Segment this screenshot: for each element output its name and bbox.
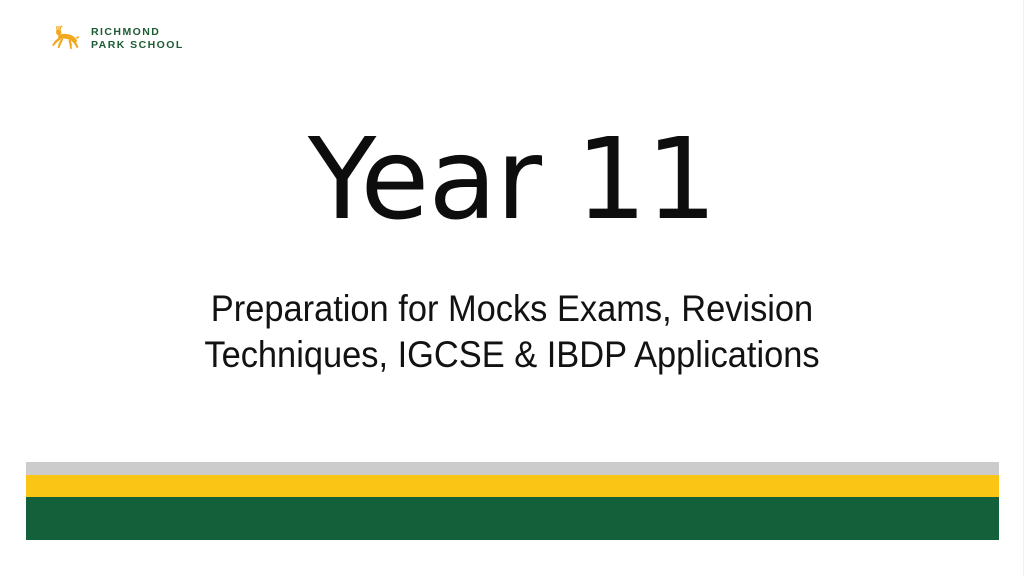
subtitle-line-1: Preparation for Mocks Exams, Revision — [36, 286, 988, 332]
school-logo: RICHMOND PARK SCHOOL — [48, 22, 184, 56]
leaping-stag-icon — [48, 22, 82, 56]
school-logo-wordmark: RICHMOND PARK SCHOOL — [91, 26, 184, 52]
title-block: Year 11 — [0, 124, 1024, 236]
subtitle-block: Preparation for Mocks Exams, Revision Te… — [0, 286, 1024, 379]
subtitle-line-2: Techniques, IGCSE & IBDP Applications — [36, 332, 988, 378]
presentation-slide: RICHMOND PARK SCHOOL Year 11 Preparation… — [0, 0, 1024, 576]
footer-band-gray — [26, 462, 999, 475]
logo-line-park-school: PARK SCHOOL — [91, 39, 184, 52]
page-title: Year 11 — [0, 124, 1024, 236]
footer-color-bands — [26, 462, 999, 540]
footer-band-gold — [26, 475, 999, 497]
logo-line-richmond: RICHMOND — [91, 26, 184, 39]
footer-band-green — [26, 497, 999, 540]
